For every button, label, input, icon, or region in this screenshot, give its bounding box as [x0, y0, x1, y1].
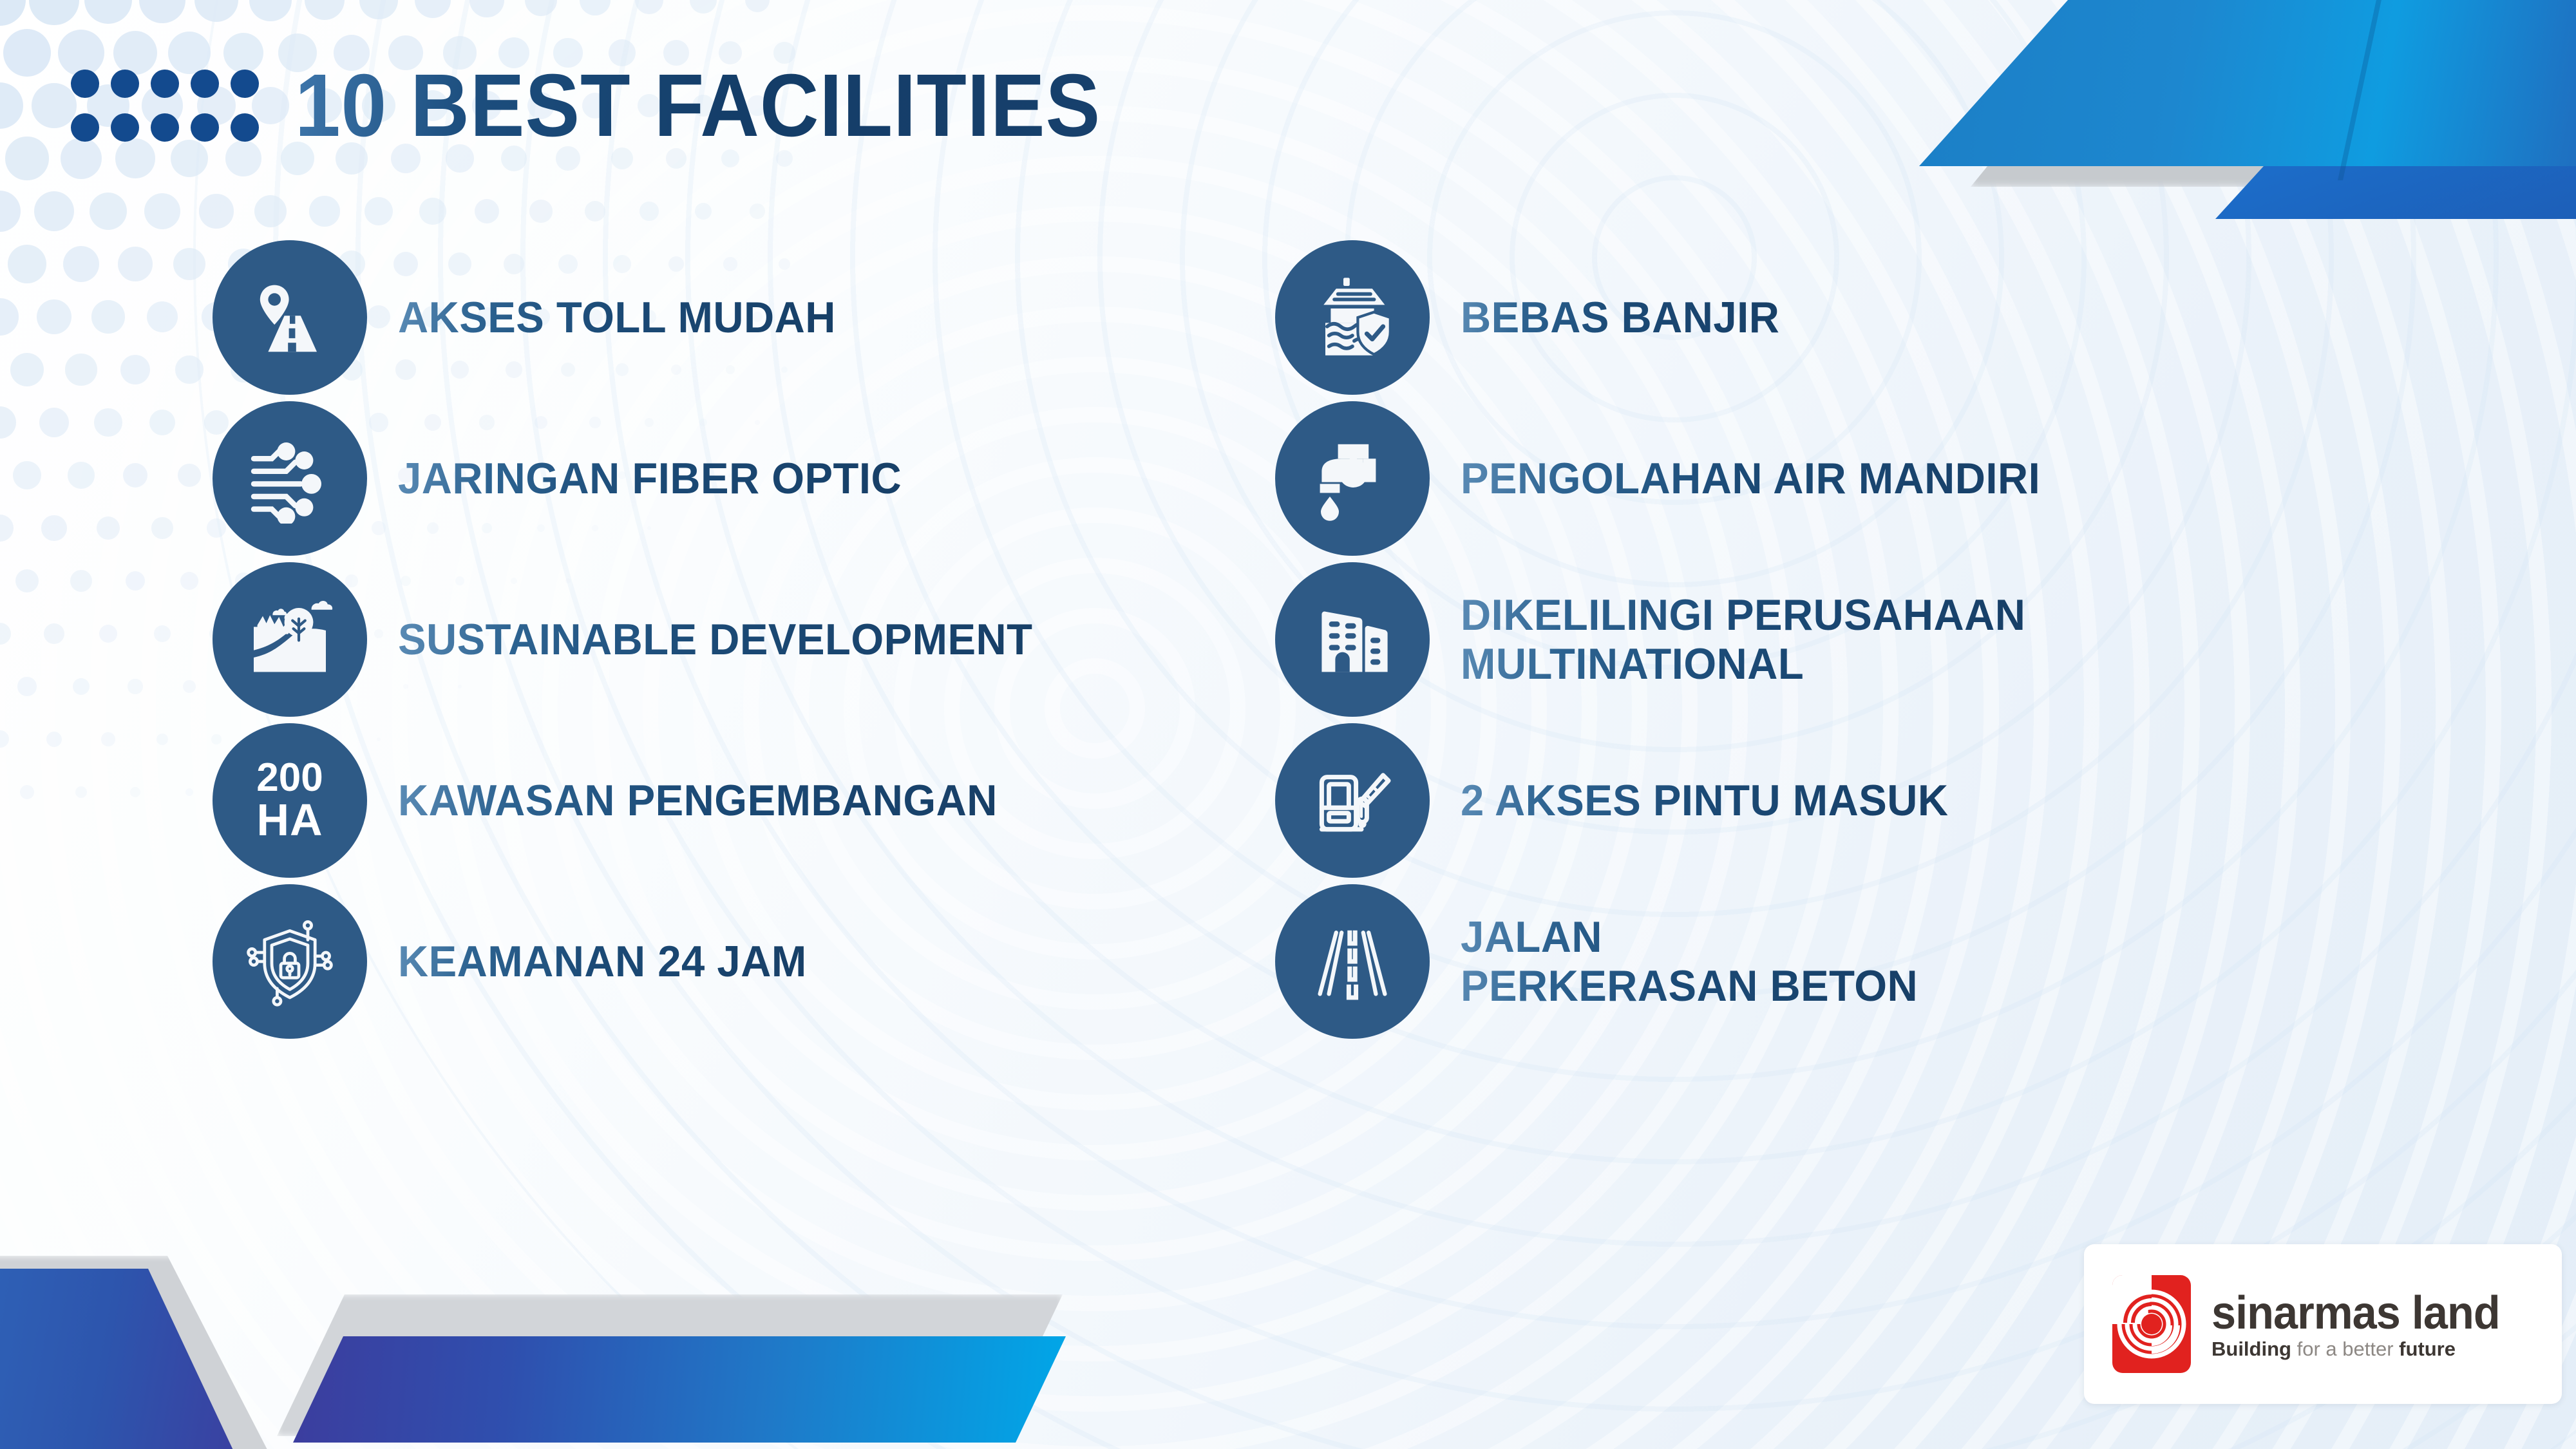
area-badge-number: 200: [256, 759, 323, 798]
brand-name: sinarmas land: [2211, 1290, 2500, 1336]
background-dot: [0, 623, 11, 645]
background-dot: [745, 0, 770, 12]
background-dot: [178, 464, 201, 487]
background-dot: [180, 572, 198, 590]
facility-item[interactable]: JALAN PERKERASAN BETON: [1275, 881, 2409, 1042]
background-dot: [475, 199, 499, 223]
background-dot: [194, 0, 238, 22]
facility-label: KAWASAN PENGEMBANGAN: [398, 776, 998, 825]
background-dot: [20, 785, 34, 799]
background-dot: [97, 516, 120, 540]
background-dot: [365, 197, 393, 225]
background-dot: [29, 0, 79, 25]
background-dot: [690, 0, 717, 14]
background-dot: [249, 0, 291, 21]
header-dot: [111, 113, 139, 142]
background-dot: [585, 201, 605, 222]
background-dot: [156, 734, 168, 745]
facility-label: DIKELILINGI PERUSAHAAN MULTINATIONAL: [1461, 591, 2025, 688]
background-dot: [10, 353, 44, 386]
background-dot: [128, 679, 142, 694]
facility-item[interactable]: JARINGAN FIBER OPTIC: [213, 398, 1346, 559]
background-dot: [123, 463, 148, 488]
background-dot: [154, 625, 171, 642]
concrete-road-icon: [1275, 884, 1430, 1039]
background-dot: [126, 571, 146, 591]
header-dot: [231, 70, 259, 98]
background-dot: [101, 732, 115, 746]
background-dot: [419, 198, 446, 224]
background-dot: [0, 191, 21, 232]
background-dot: [70, 570, 92, 592]
background-dot: [635, 0, 664, 14]
area-badge-200-ha: 200HA: [213, 723, 367, 878]
background-dot: [529, 200, 552, 222]
background-dot: [0, 0, 26, 26]
facility-item[interactable]: AKSES TOLL MUDAH: [213, 237, 1346, 398]
facility-item[interactable]: BEBAS BANJIR: [1275, 237, 2409, 398]
water-faucet-drop-icon: [1275, 401, 1430, 556]
header-dot: [71, 113, 99, 142]
background-dot: [183, 680, 196, 693]
page-title: 10 BEST FACILITIES: [295, 61, 1101, 150]
header-dot: [71, 70, 99, 98]
background-dot: [8, 245, 46, 283]
background-dot: [34, 191, 74, 231]
header-dot: [151, 70, 179, 98]
slide-header: 10 BEST FACILITIES: [71, 61, 1171, 150]
background-dot: [173, 248, 206, 281]
background-dot: [309, 196, 339, 226]
gate-barrier-icon: [1275, 723, 1430, 878]
facility-label: SUSTAINABLE DEVELOPMENT: [398, 615, 1032, 664]
background-dot: [37, 299, 71, 334]
background-dot: [68, 462, 95, 489]
flood-free-house-shield-icon: [1275, 240, 1430, 395]
tagline-light: for a better: [2291, 1338, 2399, 1360]
background-dot: [73, 678, 90, 695]
shield-lock-security-icon: [213, 884, 367, 1039]
facility-label: JALAN PERKERASAN BETON: [1461, 913, 1918, 1010]
background-dot: [99, 625, 118, 643]
background-dot: [65, 354, 97, 385]
facility-label: BEBAS BANJIR: [1461, 293, 1779, 342]
facility-item[interactable]: 200HAKAWASAN PENGEMBANGAN: [213, 720, 1346, 881]
background-dot: [147, 301, 178, 332]
facility-label: 2 AKSES PINTU MASUK: [1461, 776, 1949, 825]
facility-list-right: BEBAS BANJIR PENGOLAHAN AIR MANDIRI DIKE…: [1275, 237, 2409, 1042]
bottom-left-gradient-bar: [293, 1336, 1066, 1443]
facility-label: AKSES TOLL MUDAH: [398, 293, 836, 342]
brand-logo-text: sinarmas land Building for a better futu…: [2211, 1290, 2515, 1359]
background-dot: [151, 517, 173, 538]
background-dot: [149, 410, 176, 436]
header-dot: [191, 113, 219, 142]
facility-item[interactable]: 2 AKSES PINTU MASUK: [1275, 720, 2409, 881]
facility-item[interactable]: SUSTAINABLE DEVELOPMENT: [213, 559, 1346, 720]
background-dot: [0, 406, 16, 439]
background-dot: [359, 0, 397, 19]
facility-label: KEAMANAN 24 JAM: [398, 937, 807, 986]
background-dot: [254, 195, 287, 227]
facility-label: PENGOLAHAN AIR MANDIRI: [1461, 454, 2040, 503]
background-dot: [13, 461, 41, 489]
background-dot: [0, 298, 19, 335]
background-dot: [90, 193, 128, 231]
sinarmas-spiral-logo-icon: [2112, 1275, 2191, 1373]
background-dot: [75, 786, 88, 799]
background-dot: [175, 355, 203, 383]
background-dot: [94, 408, 122, 437]
background-dot: [695, 203, 712, 220]
facility-label: JARINGAN FIBER OPTIC: [398, 454, 902, 503]
background-dot: [0, 515, 14, 542]
background-dot: [580, 0, 610, 15]
background-dot: [32, 83, 76, 128]
top-right-blue-shape-front: [1919, 0, 2576, 166]
background-dot: [91, 300, 124, 333]
background-dot: [139, 0, 185, 23]
background-dot: [185, 788, 194, 797]
facility-item[interactable]: KEAMANAN 24 JAM: [213, 881, 1346, 1042]
background-dot: [305, 0, 345, 20]
background-dot: [118, 247, 153, 281]
background-dot: [5, 137, 48, 180]
landscape-hills-icon: [213, 562, 367, 717]
background-dot: [17, 677, 36, 696]
background-dot: [63, 246, 100, 283]
slide-canvas: 10 BEST FACILITIES AKSES TOLL MUDAH JARI…: [0, 0, 2576, 1449]
background-dot: [46, 732, 62, 747]
background-dot: [639, 202, 658, 220]
header-dot: [111, 70, 139, 98]
dot-grid-decoration: [71, 70, 259, 142]
background-dot: [84, 0, 132, 24]
header-dot: [151, 113, 179, 142]
header-dot: [231, 113, 259, 142]
brand-tagline: Building for a better future: [2211, 1339, 2515, 1359]
background-dot: [0, 82, 23, 129]
background-dot: [44, 623, 64, 644]
background-dot: [3, 29, 52, 77]
background-dot: [39, 408, 70, 438]
area-badge-unit: HA: [256, 798, 323, 842]
background-dot: [15, 569, 39, 593]
background-dot: [469, 0, 504, 17]
office-buildings-icon: [1275, 562, 1430, 717]
toll-road-pin-icon: [213, 240, 367, 395]
header-dot: [191, 70, 219, 98]
facility-item[interactable]: DIKELILINGI PERUSAHAAN MULTINATIONAL: [1275, 559, 2409, 720]
background-dot: [0, 730, 9, 748]
background-dot: [199, 194, 233, 228]
background-dot: [525, 0, 557, 16]
brand-logo-card[interactable]: sinarmas land Building for a better futu…: [2084, 1244, 2562, 1404]
background-dot: [120, 355, 150, 384]
tagline-bold-first: Building: [2211, 1338, 2291, 1360]
background-dot: [144, 193, 180, 229]
background-dot: [130, 787, 140, 797]
facility-item[interactable]: PENGOLAHAN AIR MANDIRI: [1275, 398, 2409, 559]
background-dot: [415, 0, 451, 18]
fiber-optic-circuit-icon: [213, 401, 367, 556]
background-dot: [750, 204, 764, 218]
tagline-bold-second: future: [2399, 1338, 2456, 1360]
background-dot: [41, 515, 66, 540]
facility-list-left: AKSES TOLL MUDAH JARINGAN FIBER OPTIC SU…: [213, 237, 1346, 1042]
